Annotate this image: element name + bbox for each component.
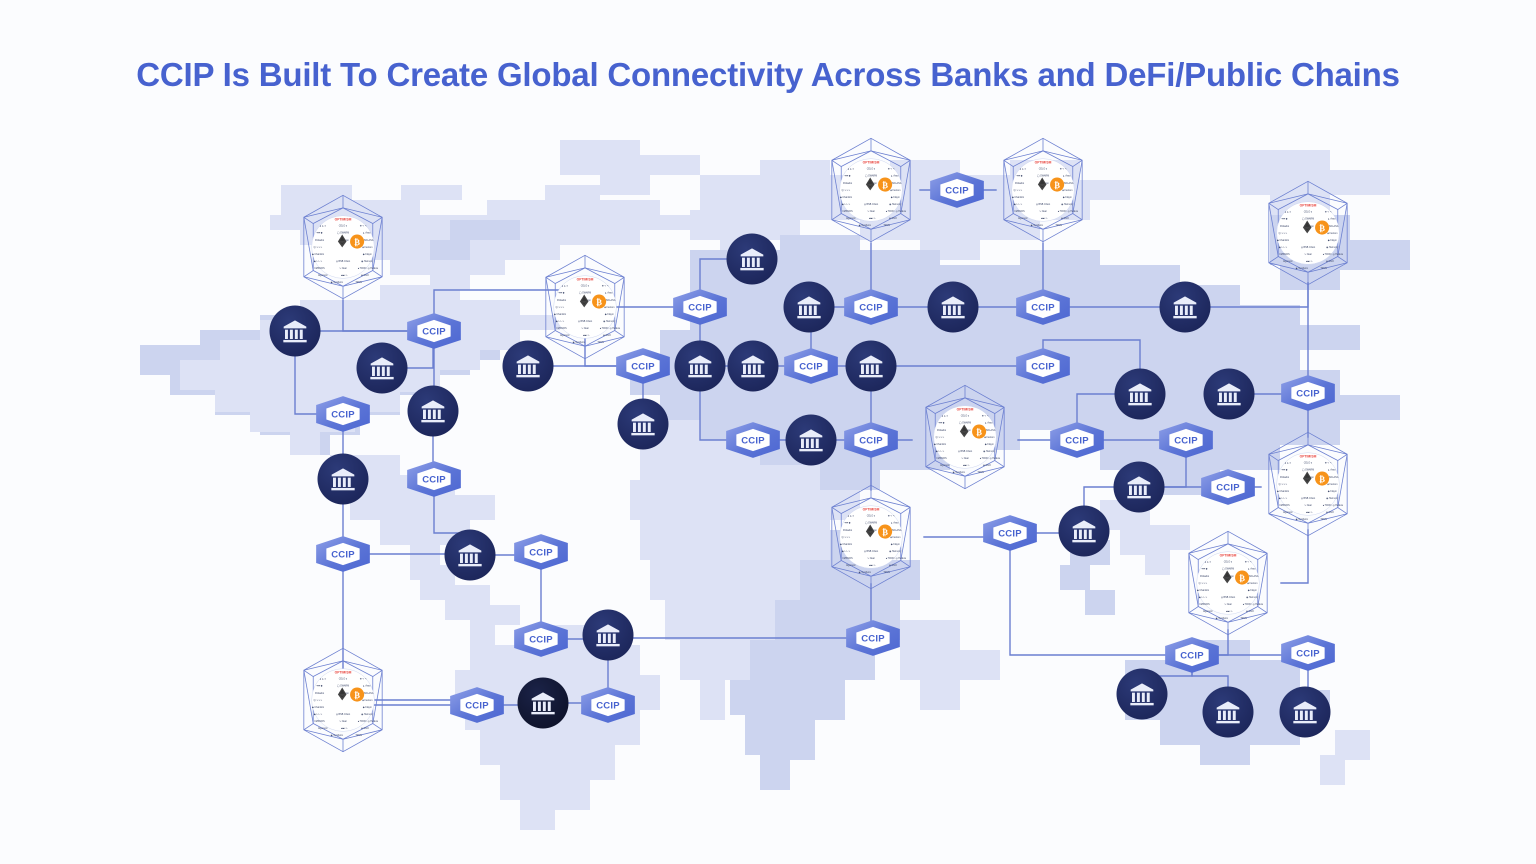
ccip-node[interactable]: CCIP (514, 534, 568, 570)
ccip-node-label: CCIP (422, 326, 446, 337)
bank-node[interactable] (503, 341, 554, 392)
ccip-node-label: CCIP (998, 528, 1022, 539)
bank-node[interactable] (1160, 282, 1211, 333)
connector-line (1281, 530, 1308, 583)
ccip-node-label: CCIP (529, 547, 553, 558)
ccip-node-label: CCIP (529, 634, 553, 645)
bank-node[interactable] (1117, 669, 1168, 720)
ccip-node-label: CCIP (859, 302, 883, 313)
ccip-node-label: CCIP (596, 700, 620, 711)
ccip-node-label: CCIP (741, 435, 765, 446)
bank-node[interactable] (786, 415, 837, 466)
bank-node[interactable] (784, 282, 835, 333)
ccip-node-label: CCIP (861, 633, 885, 644)
chain-ecosystem-icon (1004, 138, 1082, 241)
bank-node[interactable] (1204, 369, 1255, 420)
ccip-node-label: CCIP (1174, 435, 1198, 446)
ccip-node[interactable]: CCIP (983, 515, 1037, 551)
bank-node[interactable] (928, 282, 979, 333)
chain-ecosystem-node[interactable] (1269, 432, 1347, 535)
bank-node[interactable] (1203, 687, 1254, 738)
ccip-node[interactable]: CCIP (316, 536, 370, 572)
ccip-node-label: CCIP (331, 549, 355, 560)
bank-node[interactable] (583, 610, 634, 661)
chain-ecosystem-node[interactable] (1004, 138, 1082, 241)
bank-node[interactable] (445, 530, 496, 581)
chain-ecosystem-node[interactable] (1189, 531, 1267, 634)
ccip-node-label: CCIP (859, 435, 883, 446)
bank-node[interactable] (1114, 462, 1165, 513)
bank-node[interactable] (318, 454, 369, 505)
ccip-node-label: CCIP (422, 474, 446, 485)
ccip-node-label: CCIP (1296, 388, 1320, 399)
bank-node[interactable] (728, 341, 779, 392)
ccip-node-label: CCIP (799, 361, 823, 372)
bank-node[interactable] (518, 678, 569, 729)
ccip-node-label: CCIP (1180, 650, 1204, 661)
bank-node[interactable] (1280, 687, 1331, 738)
bank-node[interactable] (675, 341, 726, 392)
ccip-node-label: CCIP (945, 185, 969, 196)
ccip-network-diagram: OPTIMISM ▲▲ ≡ CELO ● ◈ ∿ ∿ ▾▾▾ ◆ ◯ SWARM… (0, 0, 1536, 864)
chain-ecosystem-icon (1269, 432, 1347, 535)
ccip-node-label: CCIP (1065, 435, 1089, 446)
bank-node[interactable] (270, 306, 321, 357)
ccip-node-label: CCIP (1031, 361, 1055, 372)
ccip-node-label: CCIP (1031, 302, 1055, 313)
bank-node[interactable] (408, 386, 459, 437)
ccip-node-label: CCIP (631, 361, 655, 372)
chain-ecosystem-icon (1189, 531, 1267, 634)
bank-node[interactable] (618, 399, 669, 450)
bank-node[interactable] (846, 341, 897, 392)
bank-node[interactable] (357, 343, 408, 394)
ccip-node-label: CCIP (1216, 482, 1240, 493)
ccip-node-label: CCIP (1296, 648, 1320, 659)
ccip-node-label: CCIP (331, 409, 355, 420)
ccip-node-label: CCIP (688, 302, 712, 313)
bank-node[interactable] (1059, 506, 1110, 557)
ccip-node-label: CCIP (465, 700, 489, 711)
bank-node[interactable] (727, 234, 778, 285)
bank-node[interactable] (1115, 369, 1166, 420)
